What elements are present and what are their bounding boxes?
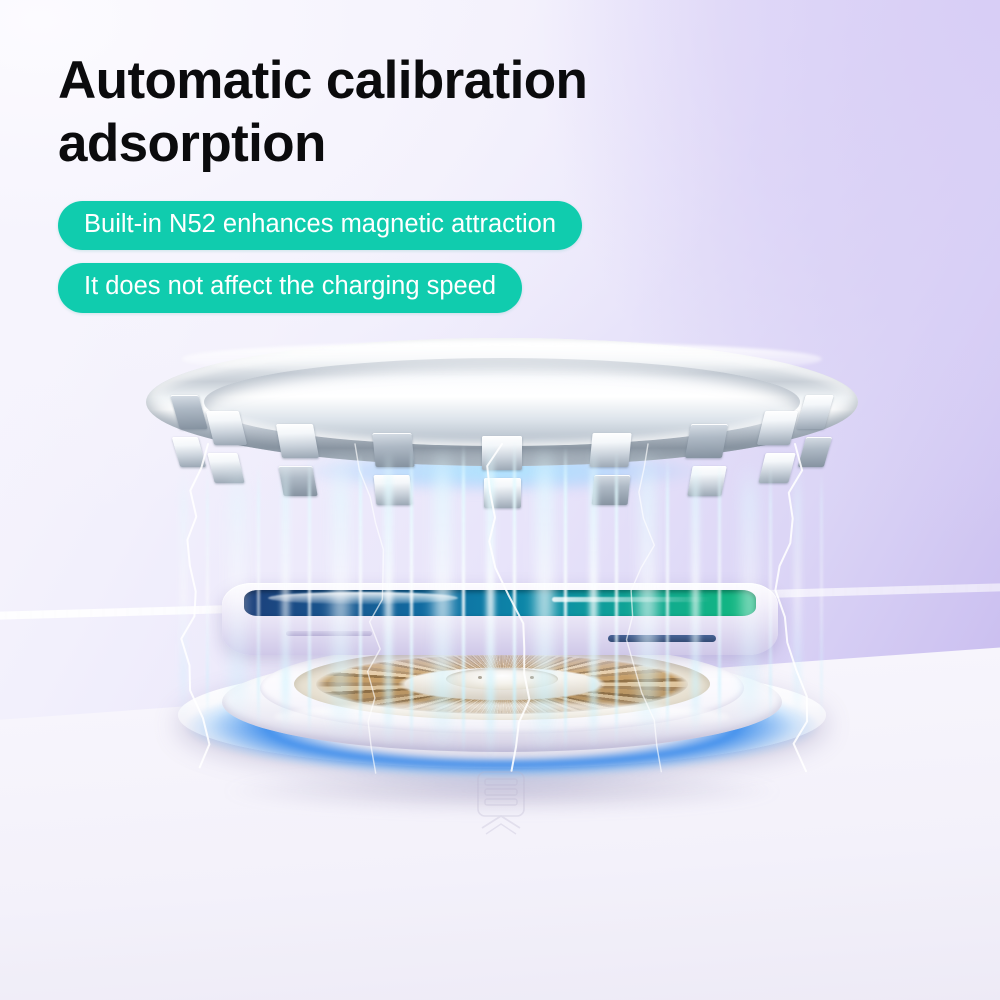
feature-badge-charging-speed: It does not affect the charging speed xyxy=(58,263,522,312)
page-title: Automatic calibration adsorption xyxy=(58,50,818,175)
headline-line-2: adsorption xyxy=(58,114,326,173)
headline-line-1: Automatic calibration xyxy=(58,51,587,110)
feature-badge-magnetic: Built-in N52 enhances magnetic attractio… xyxy=(58,201,582,250)
feature-badge-list: Built-in N52 enhances magnetic attractio… xyxy=(58,201,818,313)
copy-block: Automatic calibration adsorption Built-i… xyxy=(58,50,818,313)
banner-stage: Automatic calibration adsorption Built-i… xyxy=(0,0,1000,1000)
